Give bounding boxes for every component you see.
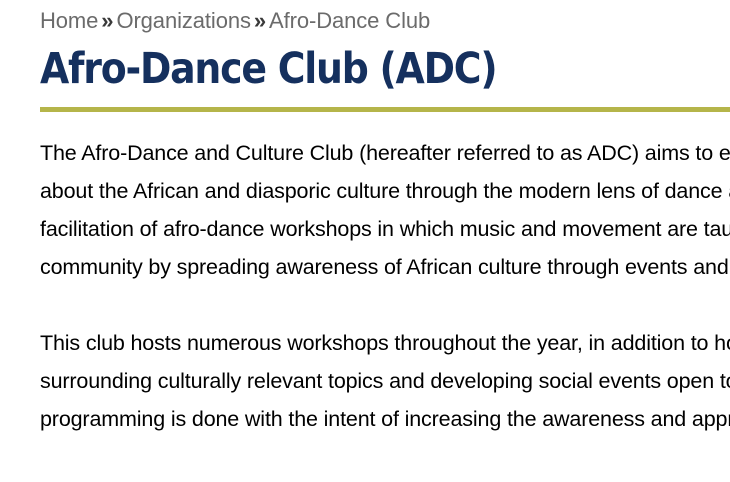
description-paragraph: The Afro-Dance and Culture Club (hereaft… — [40, 134, 730, 286]
page-container: Home»Organizations»Afro-Dance Club Afro-… — [0, 0, 730, 482]
content-column: Home»Organizations»Afro-Dance Club Afro-… — [40, 0, 730, 459]
breadcrumb-separator-icon: » — [251, 8, 269, 33]
paragraph-line: programming is done with the intent of i… — [40, 400, 730, 438]
paragraph-line: This club hosts numerous workshops throu… — [40, 324, 730, 362]
description-paragraph: This club hosts numerous workshops throu… — [40, 324, 730, 438]
paragraph-line: The Afro-Dance and Culture Club (hereaft… — [40, 134, 730, 172]
breadcrumb-separator-icon: » — [98, 8, 116, 33]
paragraph-line: facilitation of afro-dance workshops in … — [40, 210, 730, 248]
breadcrumb-item-home[interactable]: Home — [40, 8, 98, 33]
paragraph-line: surrounding culturally relevant topics a… — [40, 362, 730, 400]
paragraph-line: about the African and diasporic culture … — [40, 172, 730, 210]
breadcrumb-item-current: Afro-Dance Club — [269, 8, 430, 33]
page-title: Afro-Dance Club (ADC) — [40, 41, 730, 97]
title-divider — [40, 107, 730, 112]
organization-description: The Afro-Dance and Culture Club (hereaft… — [40, 134, 730, 438]
paragraph-line: community by spreading awareness of Afri… — [40, 248, 730, 286]
breadcrumb-item-organizations[interactable]: Organizations — [116, 8, 250, 33]
breadcrumb: Home»Organizations»Afro-Dance Club — [40, 7, 730, 35]
